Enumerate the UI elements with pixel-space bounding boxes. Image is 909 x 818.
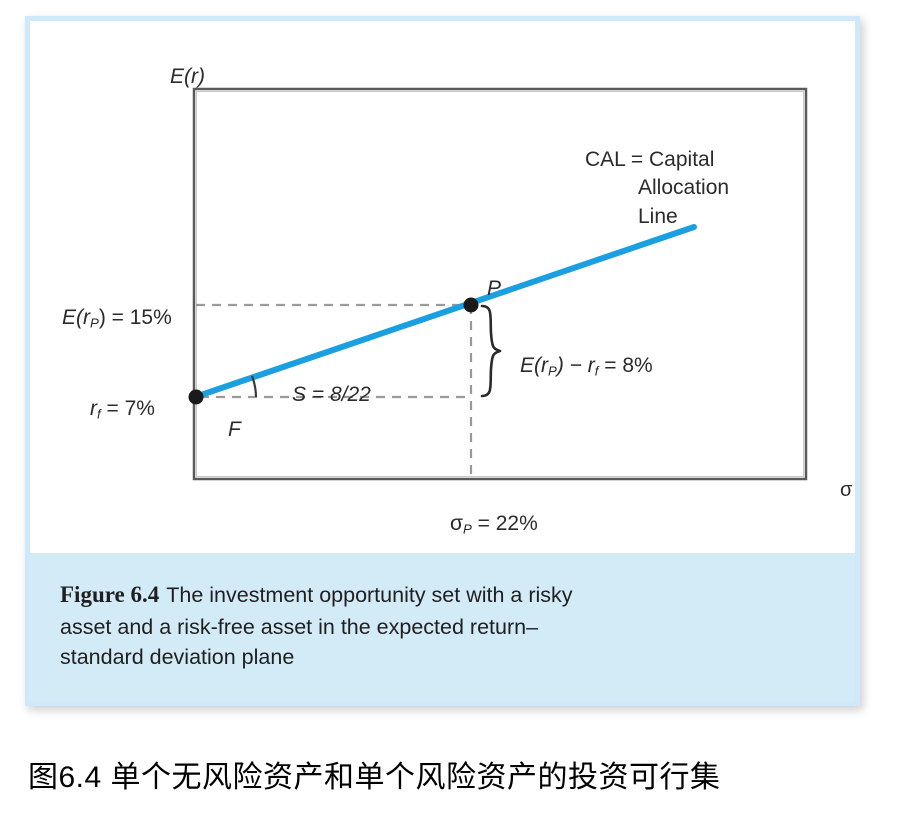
cal-annotation-line1: CAL = Capital (585, 148, 714, 171)
figure-panel: E(r) CAL = Capital Allocation Line E(rP)… (25, 16, 860, 706)
risk-premium-label: E(rP) − rf = 8% (520, 355, 653, 378)
figure-caption: Figure 6.4The investment opportunity set… (60, 579, 620, 673)
sharpe-ratio-label: S = 8/22 (292, 384, 371, 405)
data-point-f (189, 390, 204, 405)
rf-value-label: rf = 7% (90, 398, 155, 421)
cal-chart-svg (30, 21, 855, 553)
figure-number: Figure 6.4 (60, 582, 159, 607)
data-point-p (464, 298, 479, 313)
sigma-p-value-label: σP = 22% (450, 513, 538, 536)
cal-annotation: CAL = Capital Allocation Line (585, 146, 729, 231)
caption-band: Figure 6.4The investment opportunity set… (30, 553, 855, 701)
chinese-caption: 图6.4 单个无风险资产和单个风险资产的投资可行集 (28, 752, 721, 796)
erp-value-label: E(rP) = 15% (62, 307, 172, 330)
plot-region: E(r) CAL = Capital Allocation Line E(rP)… (30, 21, 855, 553)
figure-page: E(r) CAL = Capital Allocation Line E(rP)… (0, 0, 909, 818)
x-axis-label: σ (840, 480, 852, 500)
point-p-label: P (487, 278, 501, 299)
point-f-label: F (228, 419, 241, 440)
cal-annotation-line3: Line (585, 203, 729, 231)
cal-annotation-line2: Allocation (585, 174, 729, 202)
y-axis-label: E(r) (170, 66, 205, 87)
